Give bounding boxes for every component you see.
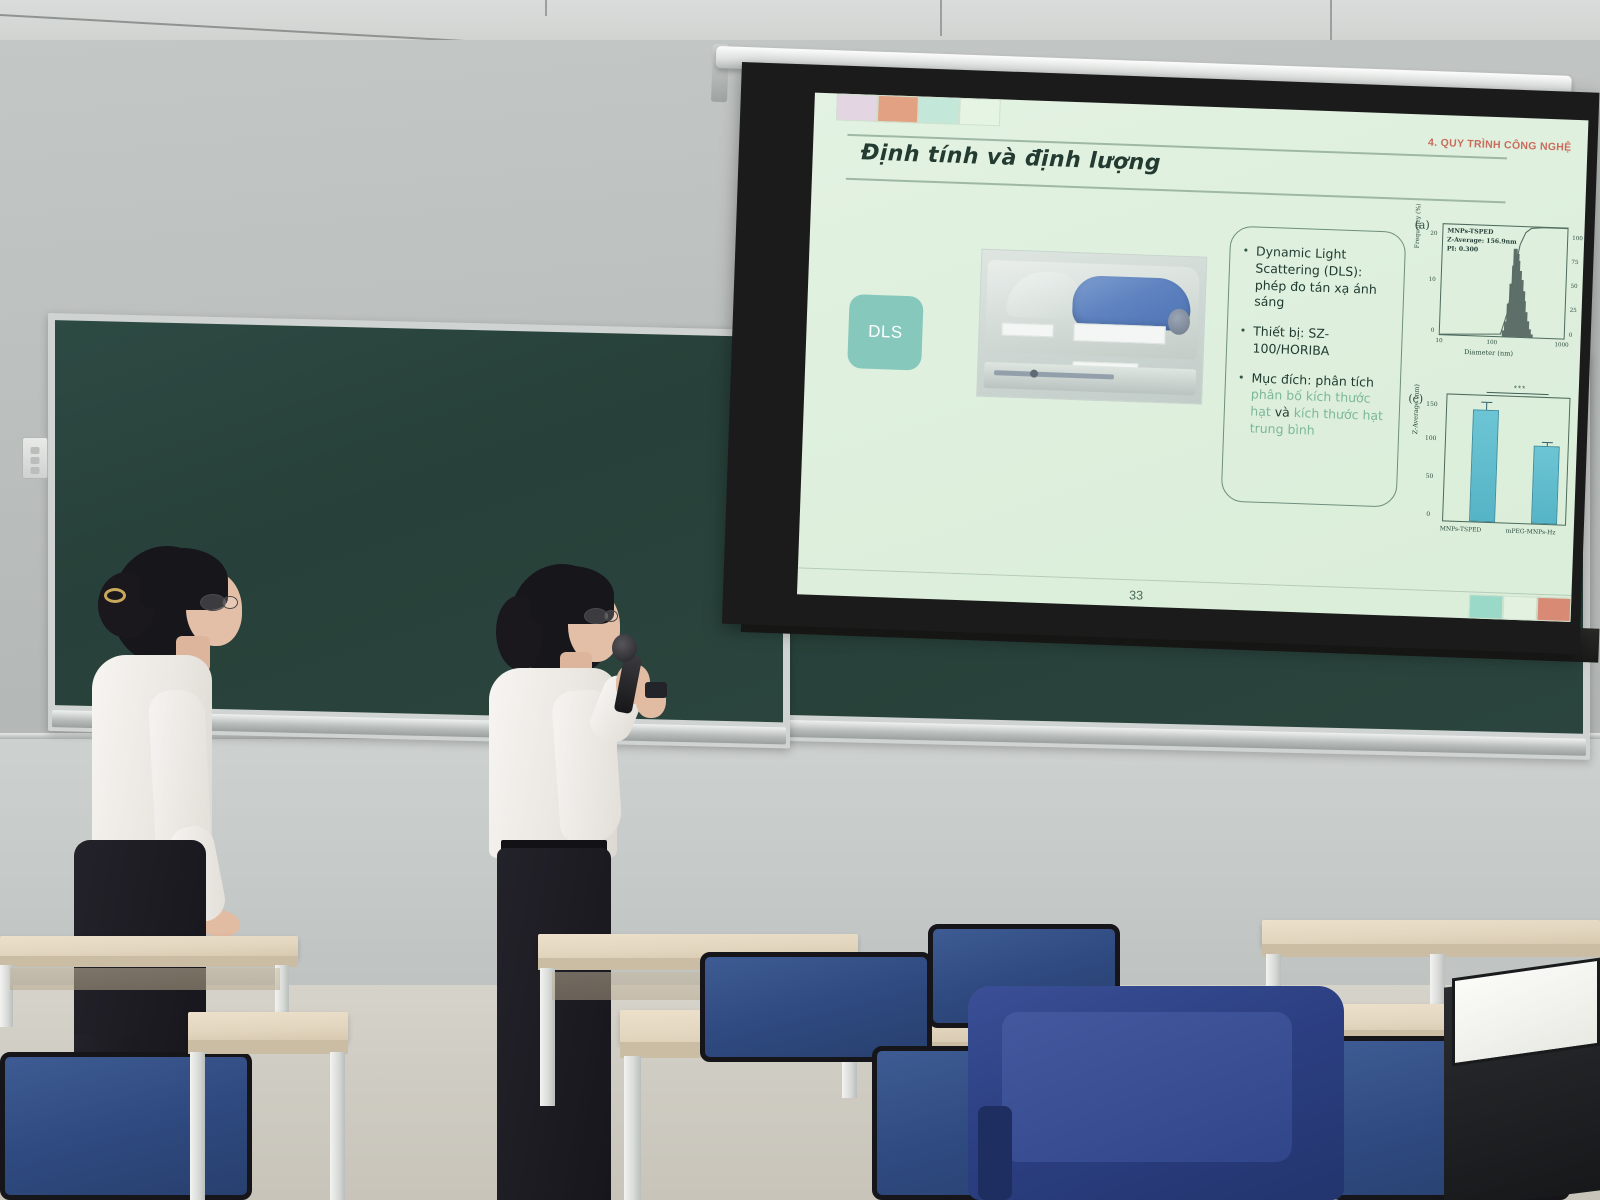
bullet-text: Dynamic Light Scattering (DLS): phép đo … <box>1254 244 1377 310</box>
bullet-text: Thiết bị: SZ-100/HORIBA <box>1252 323 1329 357</box>
chart-c-error-bar <box>1486 403 1488 409</box>
chart-c-significance-stars: *** <box>1514 384 1527 393</box>
chart-c-ytick: 150 <box>1426 401 1438 408</box>
chart-a-y2tick: 25 <box>1570 308 1577 314</box>
chart-c-error-cap <box>1481 402 1492 404</box>
chart-a-xtick: 100 <box>1486 340 1497 346</box>
bullet-item: • Mục đích: phân tích phân bố kích thước… <box>1236 369 1388 441</box>
chart-c-error-cap <box>1542 442 1553 444</box>
chart-c-bar <box>1531 446 1560 524</box>
slide-deco-top <box>836 93 1001 126</box>
chart-a-plot: MNPs-TSPED Z-Average: 156.9nm PI: 0.300 <box>1439 223 1569 339</box>
chart-a-ytick: 0 <box>1431 328 1435 334</box>
chart-a-cumulative-line <box>1440 224 1568 338</box>
bullet-card: • Dynamic Light Scattering (DLS): phép đ… <box>1221 226 1407 508</box>
title-rule-bottom <box>846 178 1506 204</box>
wall-switch-panel[interactable] <box>22 437 48 479</box>
section-tag: 4. QUY TRÌNH CÔNG NGHỆ <box>1428 137 1572 154</box>
bullet-text: và <box>1271 404 1295 420</box>
chart-c-xtick: mPEG-MNPs-Hz <box>1506 528 1556 537</box>
chart-a-y2tick: 0 <box>1569 333 1573 339</box>
bullet-dot: • <box>1239 323 1247 357</box>
bullet-dot: • <box>1240 243 1249 310</box>
projector-screen: Định tính và định lượng 4. QUY TRÌNH CÔN… <box>722 62 1600 654</box>
chart-c-ytick: 50 <box>1425 473 1433 480</box>
slide-number: 33 <box>1129 588 1143 602</box>
bullet-dot: • <box>1236 369 1245 436</box>
chart-a-xtick: 10 <box>1435 338 1442 344</box>
chart-c-plot: *** <box>1442 393 1570 525</box>
chart-a-y2tick: 50 <box>1570 284 1577 290</box>
chart-a-xtick: 1000 <box>1554 342 1568 349</box>
bullet-item: • Thiết bị: SZ-100/HORIBA <box>1239 323 1390 362</box>
chart-a: (a) Frequency (%) Undersize (%) MNPs-TSP… <box>1405 214 1587 380</box>
bullet-item: • Dynamic Light Scattering (DLS): phép đ… <box>1240 243 1392 315</box>
chart-c-error-bar <box>1547 443 1548 446</box>
classroom-scene: Định tính và định lượng 4. QUY TRÌNH CÔN… <box>0 0 1600 1200</box>
chart-c-ytick: 0 <box>1426 511 1430 518</box>
chart-a-ylabel: Frequency (%) <box>1414 203 1423 248</box>
chart-a-ytick: 10 <box>1429 277 1436 283</box>
microphone-head <box>612 634 637 662</box>
backpack <box>968 986 1344 1200</box>
chart-c-bar <box>1469 409 1499 522</box>
chart-c-ytick: 100 <box>1425 435 1437 442</box>
chart-a-y2label: Undersize (%) <box>1588 260 1589 303</box>
chart-a-y2tick: 75 <box>1571 260 1578 266</box>
chart-a-ytick: 20 <box>1430 231 1437 237</box>
slide-footer-rule <box>798 567 1572 596</box>
presentation-slide: Định tính và định lượng 4. QUY TRÌNH CÔN… <box>797 93 1588 622</box>
chart-c: (c) Z-Average (nm) *** 0 50 100 150 MNPs… <box>1399 382 1581 566</box>
slide-deco-bottom <box>1469 594 1572 622</box>
slide-title: Định tính và định lượng <box>860 140 1161 176</box>
dls-badge: DLS <box>847 294 924 371</box>
presentation-clicker[interactable] <box>645 682 667 698</box>
chart-a-xlabel: Diameter (nm) <box>1464 348 1513 358</box>
chart-c-xtick: MNPs-TSPED <box>1440 525 1482 533</box>
chart-a-y2tick: 100 <box>1572 236 1583 242</box>
instrument-photo <box>976 249 1207 405</box>
chart-c-ylabel: Z-Average (nm) <box>1411 384 1421 435</box>
